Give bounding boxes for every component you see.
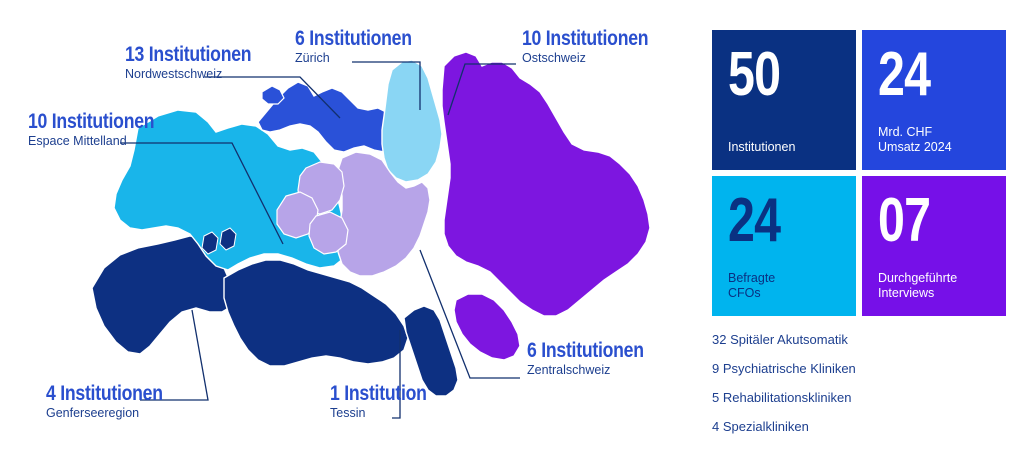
callout-count-nordwestschweiz: 13 Institutionen	[125, 44, 251, 66]
callout-zuerich: 6 Institutionen Zürich	[295, 28, 434, 66]
breakdown-item-psychiatrie: 9 Psychiatrische Kliniken	[712, 361, 1012, 376]
callout-count-zentralschweiz: 6 Institutionen	[527, 340, 644, 362]
callout-region-zentralschweiz: Zentralschweiz	[527, 363, 666, 378]
callout-region-genferseeregion: Genferseeregion	[46, 406, 185, 421]
callout-count-zuerich: 6 Institutionen	[295, 28, 412, 50]
callout-nordwestschweiz: 13 Institutionen Nordwestschweiz	[125, 44, 275, 82]
callout-region-ostschweiz: Ostschweiz	[522, 51, 672, 66]
callout-count-tessin: 1 Institution	[330, 383, 427, 405]
stat-tile-institutionen: 50 Institutionen	[712, 30, 856, 170]
callout-tessin: 1 Institution Tessin	[330, 383, 445, 421]
region-zuerich	[382, 60, 442, 182]
callout-count-genferseeregion: 4 Institutionen	[46, 383, 163, 405]
stats-tile-panel: 50 Institutionen 24 Mrd. CHF Umsatz 2024…	[712, 30, 1006, 316]
breakdown-item-akutsomatik: 32 Spitäler Akutsomatik	[712, 332, 1012, 347]
stat-tile-interviews: 07 Durchgeführte Interviews	[862, 176, 1006, 316]
stats-tile-grid: 50 Institutionen 24 Mrd. CHF Umsatz 2024…	[712, 30, 1006, 316]
callout-region-nordwestschweiz: Nordwestschweiz	[125, 67, 275, 82]
institution-breakdown-list: 32 Spitäler Akutsomatik 9 Psychiatrische…	[712, 332, 1012, 434]
stat-label-interviews: Durchgeführte Interviews	[878, 271, 990, 302]
callout-zentralschweiz: 6 Institutionen Zentralschweiz	[527, 340, 666, 378]
callout-count-espace-mittelland: 10 Institutionen	[28, 111, 154, 133]
region-wallis	[224, 260, 408, 366]
stat-number-befragte-cfos: 24	[728, 192, 815, 249]
breakdown-item-spezialkliniken: 4 Spezialkliniken	[712, 419, 1012, 434]
callout-region-espace-mittelland: Espace Mittelland	[28, 134, 178, 149]
callout-genferseeregion: 4 Institutionen Genferseeregion	[46, 383, 185, 421]
stat-number-umsatz: 24	[878, 46, 965, 103]
callout-espace-mittelland: 10 Institutionen Espace Mittelland	[28, 111, 178, 149]
region-zentralschweiz-inner-c	[309, 212, 348, 254]
callout-region-tessin: Tessin	[330, 406, 445, 421]
stat-label-befragte-cfos: Befragte CFOs	[728, 271, 840, 302]
callout-region-zuerich: Zürich	[295, 51, 434, 66]
callout-count-ostschweiz: 10 Institutionen	[522, 28, 648, 50]
stat-number-institutionen: 50	[728, 46, 815, 103]
region-ostschweiz-south	[454, 294, 520, 360]
breakdown-item-rehabilitation: 5 Rehabilitationskliniken	[712, 390, 1012, 405]
map-detail-lake-sliver	[202, 232, 218, 254]
stat-label-institutionen: Institutionen	[728, 140, 840, 156]
stat-tile-befragte-cfos: 24 Befragte CFOs	[712, 176, 856, 316]
map-detail-lake-sliver-2	[220, 228, 236, 250]
stat-tile-umsatz: 24 Mrd. CHF Umsatz 2024	[862, 30, 1006, 170]
swiss-map-panel: 13 Institutionen Nordwestschweiz 6 Insti…	[0, 0, 690, 449]
stat-label-umsatz: Mrd. CHF Umsatz 2024	[878, 125, 990, 156]
stat-number-interviews: 07	[878, 192, 965, 249]
region-ostschweiz	[442, 52, 650, 316]
callout-ostschweiz: 10 Institutionen Ostschweiz	[522, 28, 672, 66]
region-nordwestschweiz-exclave	[262, 86, 284, 104]
